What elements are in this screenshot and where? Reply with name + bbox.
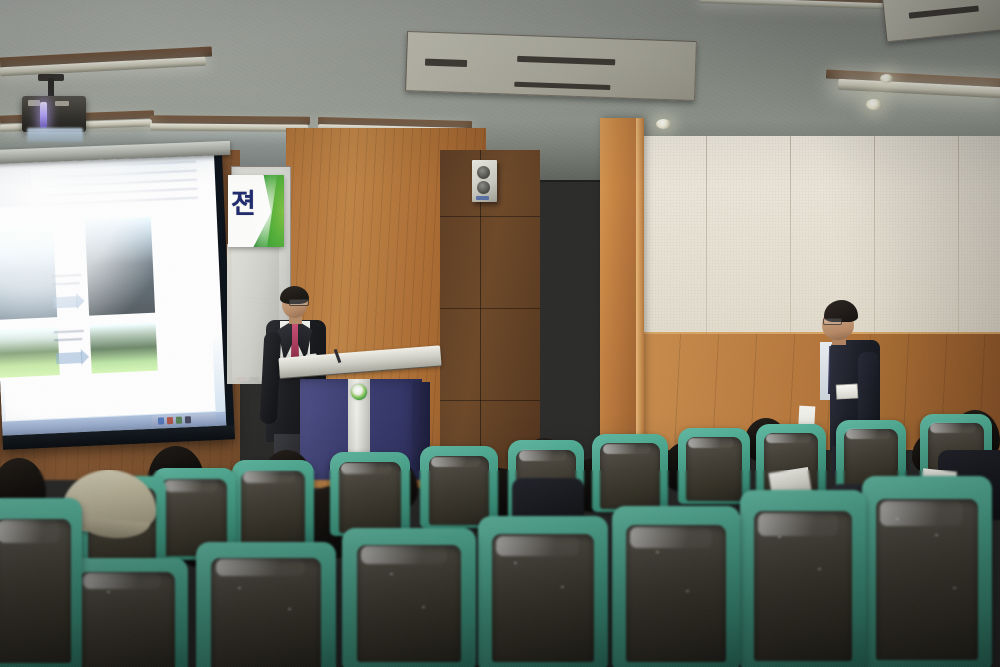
speaker-brand-label — [476, 196, 489, 200]
slide-body — [0, 206, 216, 420]
downlight — [866, 99, 882, 110]
auditorium-seat — [478, 516, 608, 667]
slide-title-block — [0, 161, 198, 208]
banner-text: 젼 — [231, 191, 256, 218]
tray-icon — [185, 416, 191, 423]
slide-photo-after-2 — [90, 321, 158, 374]
slide-photo-after-1 — [85, 217, 155, 316]
slide-caption — [51, 274, 81, 279]
projector-detail — [28, 100, 40, 106]
downlight — [880, 74, 893, 83]
slide-photo-before-1 — [0, 221, 57, 320]
glasses-icon — [289, 299, 309, 306]
slide-photo-before-2 — [0, 325, 60, 378]
slide-caption — [54, 330, 84, 335]
projected-slide — [0, 154, 226, 436]
presenter-tie — [291, 324, 299, 358]
tray-icon — [158, 417, 164, 424]
auditorium-seat — [330, 452, 410, 536]
strip-light — [150, 123, 308, 131]
hanging-banner: 젼 — [228, 175, 284, 247]
slide-arrow-icon — [56, 352, 82, 364]
slide-caption — [52, 282, 80, 287]
downlight — [656, 119, 671, 129]
auditorium-photo: 젼 — [0, 0, 1000, 667]
auditorium-seat — [196, 542, 336, 667]
auditorium-seat — [862, 476, 992, 667]
auditorium-seat — [592, 434, 668, 512]
auditorium-seat — [740, 490, 866, 667]
projector-detail — [55, 101, 69, 106]
auditorium-seat — [66, 558, 188, 667]
auditorium-seat — [612, 506, 740, 667]
organisation-emblem-icon — [351, 384, 367, 400]
tray-icon — [176, 417, 182, 424]
auditorium-seat — [0, 498, 82, 667]
projection-screen — [0, 149, 235, 449]
tray-icon — [167, 417, 173, 424]
glasses-icon — [823, 318, 842, 325]
slide-arrow-icon — [53, 296, 77, 308]
auditorium-seat — [232, 460, 314, 548]
name-badge — [836, 383, 859, 399]
projector-lamp-icon — [40, 102, 47, 128]
projector-glow — [27, 128, 83, 142]
ceiling-vent-panel — [405, 31, 697, 101]
slide-caption — [54, 338, 82, 343]
auditorium-seat — [342, 528, 476, 667]
